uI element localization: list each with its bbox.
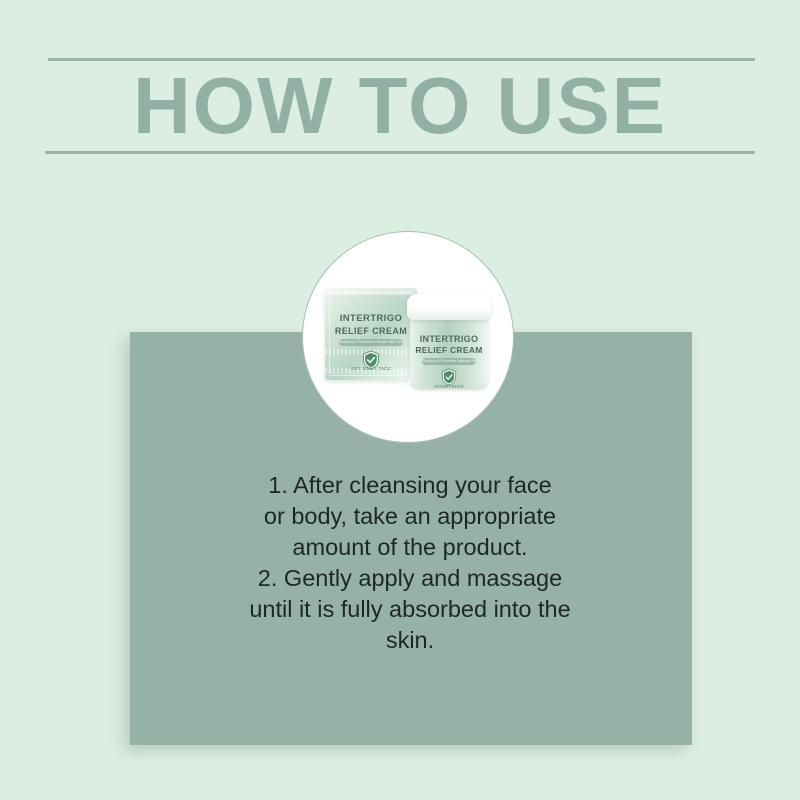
product-image-circle: INTERTRIGO RELIEF CREAM Soothing & Prote… — [302, 231, 514, 443]
page-title: HOW TO USE — [0, 62, 800, 150]
product-box-name: INTERTRIGO RELIEF CREAM — [325, 313, 417, 337]
product-jar-lid — [407, 294, 491, 320]
product-box-name-line2: RELIEF CREAM — [325, 325, 417, 337]
product-box: INTERTRIGO RELIEF CREAM Soothing & Prote… — [325, 288, 417, 380]
product-box-net-weight: NET 50G/1.76OZ — [325, 366, 417, 371]
instruction-line: 2. Gently apply and massage — [190, 563, 630, 594]
product-jar-body: INTERTRIGO RELIEF CREAM Soothing & Prote… — [410, 316, 488, 388]
product-jar-brand: INTERTRIGO — [410, 384, 488, 388]
product-box-tagline: Soothing & Protective Intimate Skin Crea… — [339, 339, 403, 346]
instruction-line: 1. After cleansing your face — [190, 470, 630, 501]
instructions-text: 1. After cleansing your face or body, ta… — [190, 470, 630, 656]
product-jar-tagline: Soothing & Protective Intimate Skin Crea… — [422, 358, 476, 365]
shield-check-icon — [362, 350, 380, 375]
instruction-line: skin. — [190, 625, 630, 656]
product-jar-name-line2: RELIEF CREAM — [410, 345, 488, 356]
product-jar: INTERTRIGO RELIEF CREAM Soothing & Prote… — [407, 294, 491, 390]
instruction-line: amount of the product. — [190, 532, 630, 563]
product-box-name-line1: INTERTRIGO — [340, 313, 403, 324]
header-rule-bottom — [45, 151, 755, 154]
product-jar-name: INTERTRIGO RELIEF CREAM — [410, 334, 488, 356]
how-to-use-poster: HOW TO USE 1. After cleansing your face … — [0, 0, 800, 800]
instruction-line: or body, take an appropriate — [190, 501, 630, 532]
instruction-line: until it is fully absorbed into the — [190, 594, 630, 625]
product-jar-name-line1: INTERTRIGO — [420, 334, 479, 344]
